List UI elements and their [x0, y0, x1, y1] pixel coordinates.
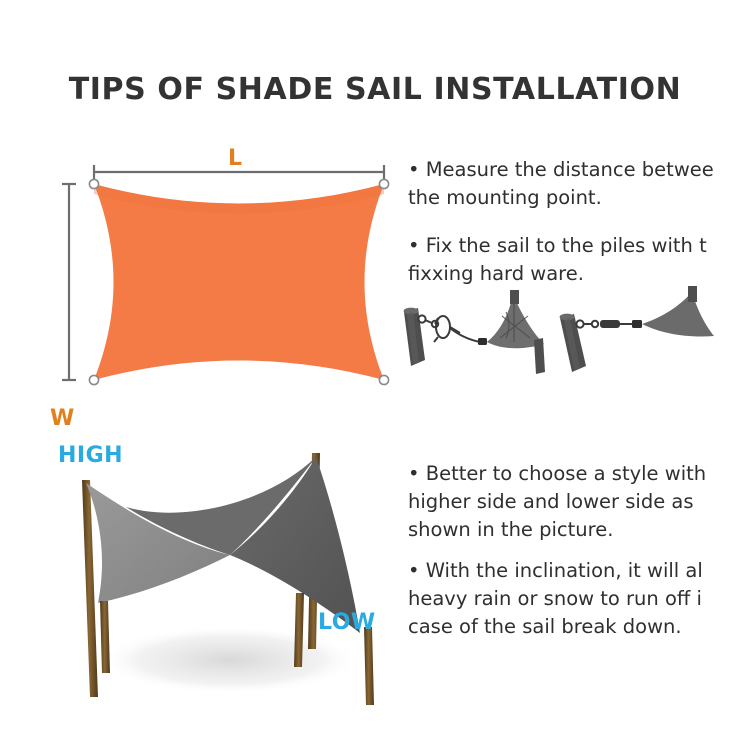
grommet-top-left [89, 179, 98, 188]
turnbuckle-barrel [600, 320, 620, 328]
tip-line: shown in the picture. [408, 516, 706, 544]
width-dimension-line [62, 184, 76, 380]
tip-fix-sail-to-piles: • Fix the sail to the piles with t fixxi… [408, 232, 707, 288]
grommet-bottom-right [379, 375, 388, 384]
sail-corner-triangle [642, 292, 714, 337]
tip-line: the mounting point. [408, 184, 714, 212]
cable-clamp [478, 338, 487, 345]
width-label: W [50, 408, 74, 430]
ground-shadow [100, 626, 360, 694]
tip-line: • Better to choose a style with [408, 460, 706, 488]
infographic-page: TIPS OF SHADE SAIL INSTALLATION [0, 0, 750, 750]
rectangular-sail-graphic [40, 140, 400, 400]
post-turnbuckle-triangular-sail-corner-icon [398, 282, 548, 374]
low-label: LOW [318, 612, 376, 634]
turnbuckle [434, 316, 460, 342]
page-title: TIPS OF SHADE SAIL INSTALLATION [0, 72, 750, 107]
post-low-right [364, 627, 374, 705]
post-cable-shackle-sail-corner-icon [556, 282, 716, 374]
tip-choose-high-low-style: • Better to choose a style with higher s… [408, 460, 706, 544]
mounting-post-far [688, 286, 697, 302]
high-low-sail-graphic [30, 435, 410, 715]
tip-line: • With the inclination, it will al [408, 557, 703, 585]
tip-line: case of the sail break down. [408, 613, 703, 641]
high-low-sail-diagram: HIGH LOW [30, 435, 410, 715]
grommet-top-right [379, 179, 388, 188]
tip-line: • Measure the distance betwee [408, 156, 714, 184]
rectangular-sail-diagram: L W [40, 140, 400, 400]
tip-line: heavy rain or snow to run off i [408, 585, 703, 613]
shackle-hardware [576, 320, 598, 327]
tip-line: • Fix the sail to the piles with t [408, 232, 707, 260]
high-label: HIGH [58, 445, 123, 467]
tip-line: higher side and lower side as [408, 488, 706, 516]
tip-measure-distance: • Measure the distance betwee the mounti… [408, 156, 714, 212]
length-label: L [228, 148, 242, 170]
grommet-bottom-left [89, 375, 98, 384]
hardware-illustrations [398, 282, 750, 374]
tip-inclination-runoff: • With the inclination, it will al heavy… [408, 557, 703, 641]
cable-clamp [632, 320, 642, 328]
post-high-left [82, 480, 98, 697]
